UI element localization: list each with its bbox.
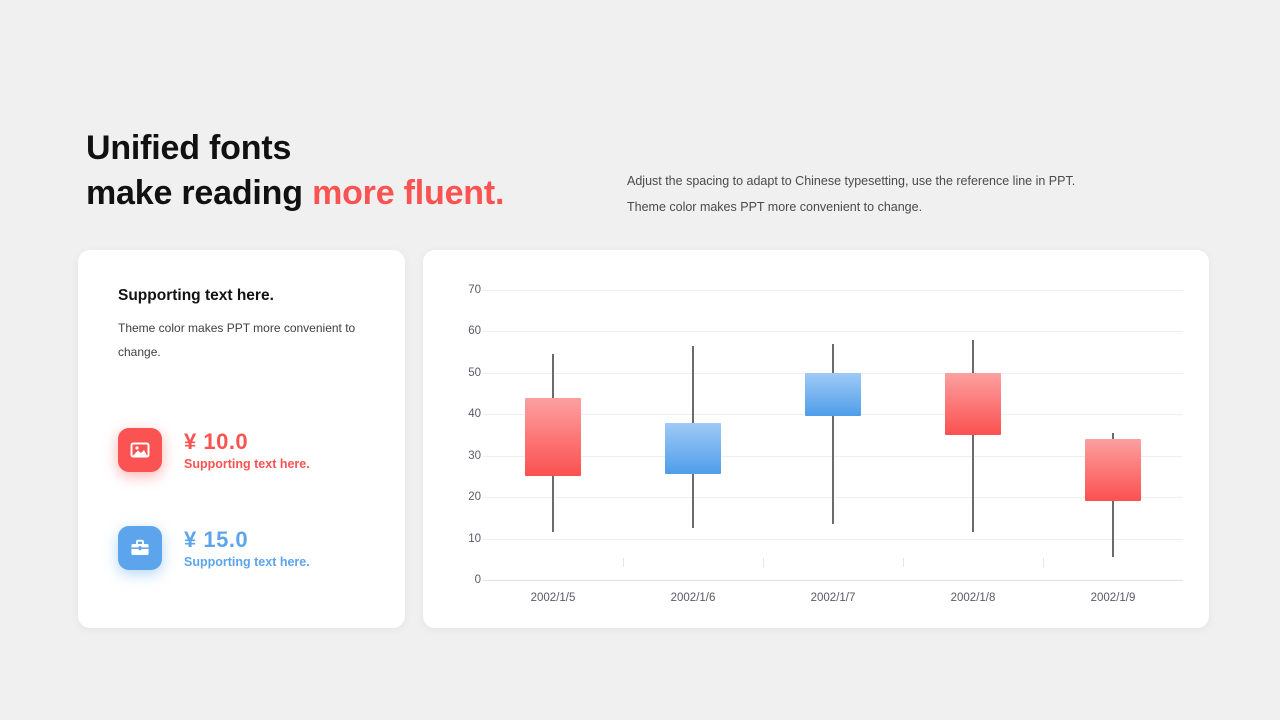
supporting-text-card: Supporting text here. Theme color makes … [78, 250, 405, 628]
candlestick-body [1085, 439, 1141, 501]
candlestick[interactable] [945, 290, 1001, 580]
x-axis-tick [763, 558, 764, 567]
y-axis-tick-label: 10 [441, 533, 481, 545]
page-title: Unified fonts make reading more fluent. [86, 126, 504, 216]
x-axis-tick-label: 2002/1/7 [811, 592, 856, 604]
y-axis-tick-label: 30 [441, 450, 481, 462]
card-title: Supporting text here. [118, 287, 274, 305]
chart-card: 0102030405060702002/1/52002/1/62002/1/72… [423, 250, 1209, 628]
subheading-line-2: Theme color makes PPT more convenient to… [627, 194, 1147, 220]
header: Unified fonts make reading more fluent. [86, 126, 504, 216]
title-line-1: Unified fonts [86, 126, 504, 171]
y-axis-tick-label: 0 [441, 574, 481, 586]
x-axis-tick-label: 2002/1/8 [951, 592, 996, 604]
candlestick-wick [972, 340, 974, 533]
x-axis-tick [1043, 558, 1044, 567]
subheading-line-1: Adjust the spacing to adapt to Chinese t… [627, 168, 1147, 194]
title-line-2-plain: make reading [86, 174, 312, 212]
x-axis-tick-label: 2002/1/6 [671, 592, 716, 604]
title-line-2-accent: more fluent. [312, 174, 504, 212]
candlestick-body [665, 423, 721, 475]
image-icon [118, 428, 162, 472]
stat-value: ¥ 15.0 [184, 527, 310, 552]
candlestick[interactable] [665, 290, 721, 580]
slide: Unified fonts make reading more fluent. … [0, 0, 1280, 720]
candlestick[interactable] [805, 290, 861, 580]
chart-plot-area: 0102030405060702002/1/52002/1/62002/1/72… [483, 290, 1183, 580]
title-line-2: make reading more fluent. [86, 171, 504, 216]
stat-text: ¥ 10.0 Supporting text here. [184, 429, 310, 470]
stat-text: ¥ 15.0 Supporting text here. [184, 527, 310, 568]
candlestick[interactable] [1085, 290, 1141, 580]
gridline [483, 580, 1183, 581]
candlestick-wick [832, 344, 834, 524]
card-description: Theme color makes PPT more convenient to… [118, 316, 373, 364]
candlestick-body [945, 373, 1001, 435]
candlestick[interactable] [525, 290, 581, 580]
y-axis-tick-label: 70 [441, 284, 481, 296]
candlestick-body [805, 373, 861, 417]
y-axis-tick-label: 40 [441, 408, 481, 420]
y-axis-tick-label: 50 [441, 367, 481, 379]
subheading: Adjust the spacing to adapt to Chinese t… [627, 168, 1147, 221]
x-axis-tick [903, 558, 904, 567]
stat-label: Supporting text here. [184, 457, 310, 471]
toolbox-icon [118, 526, 162, 570]
candlestick-body [525, 398, 581, 477]
x-axis-tick [623, 558, 624, 567]
x-axis-tick-label: 2002/1/9 [1091, 592, 1136, 604]
stat-value: ¥ 10.0 [184, 429, 310, 454]
candlestick-chart: 0102030405060702002/1/52002/1/62002/1/72… [423, 250, 1209, 628]
y-axis-tick-label: 20 [441, 491, 481, 503]
stat-item-image[interactable]: ¥ 10.0 Supporting text here. [118, 428, 310, 472]
stat-item-toolbox[interactable]: ¥ 15.0 Supporting text here. [118, 526, 310, 570]
y-axis-tick-label: 60 [441, 325, 481, 337]
x-axis-tick-label: 2002/1/5 [531, 592, 576, 604]
stat-label: Supporting text here. [184, 555, 310, 569]
